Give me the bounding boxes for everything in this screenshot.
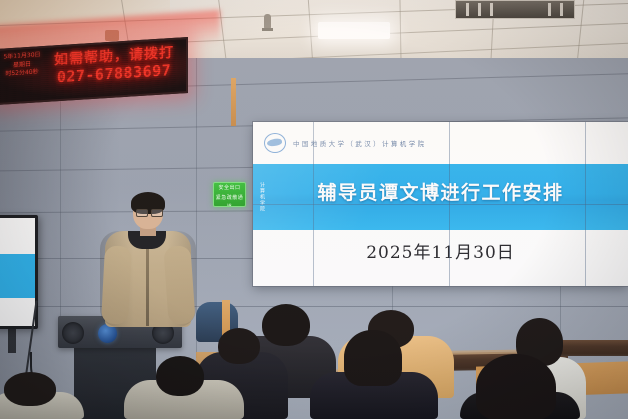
lecture-hall-screenshot: 5年11月30日 星期日 时52分40秒 如需帮助，请拨打 027-678836… <box>0 0 628 419</box>
university-logo-icon <box>264 133 286 152</box>
presentation-video-wall[interactable]: 中国地质大学（武汉）计算机学院 计算机学院 辅导员谭文博进行工作安排 2025年… <box>253 122 628 286</box>
monitor-screen <box>0 218 35 326</box>
student-head <box>4 372 56 406</box>
emergency-exit-sign: 安全出口 紧急疏散通道 <box>213 182 246 207</box>
student-head <box>344 330 402 386</box>
monitor-accent-band <box>0 254 35 298</box>
slide-title: 辅导员谭文博进行工作安排 <box>253 178 628 205</box>
presenter-arm-left <box>101 245 132 324</box>
led-scanlines <box>0 39 186 103</box>
exit-sign-line1: 安全出口 <box>214 184 245 193</box>
slide-date: 2025年11月30日 <box>253 238 628 263</box>
ceiling-tile-seam <box>577 0 585 62</box>
student-head <box>476 354 556 419</box>
confidence-monitor[interactable] <box>0 215 38 329</box>
ceiling-sprinkler-icon <box>264 14 271 30</box>
presenter-arm-right <box>163 245 195 325</box>
ceiling-tile-seam <box>308 0 313 62</box>
podium-speaker-grille <box>62 322 84 344</box>
ceiling-air-vent <box>455 0 575 19</box>
presenter-jacket-zipper <box>146 244 149 326</box>
wall-accent-strip <box>231 78 236 126</box>
student-head <box>156 356 204 396</box>
audience-bench <box>556 340 628 356</box>
videowall-bezel <box>253 204 628 205</box>
student-head <box>262 304 310 346</box>
ceiling-tile-seam <box>399 0 401 62</box>
student-head <box>218 328 260 364</box>
exit-sign-line2: 紧急疏散通道 <box>214 194 245 207</box>
ceiling-light-panel <box>318 22 390 39</box>
glasses-icon <box>136 209 161 215</box>
